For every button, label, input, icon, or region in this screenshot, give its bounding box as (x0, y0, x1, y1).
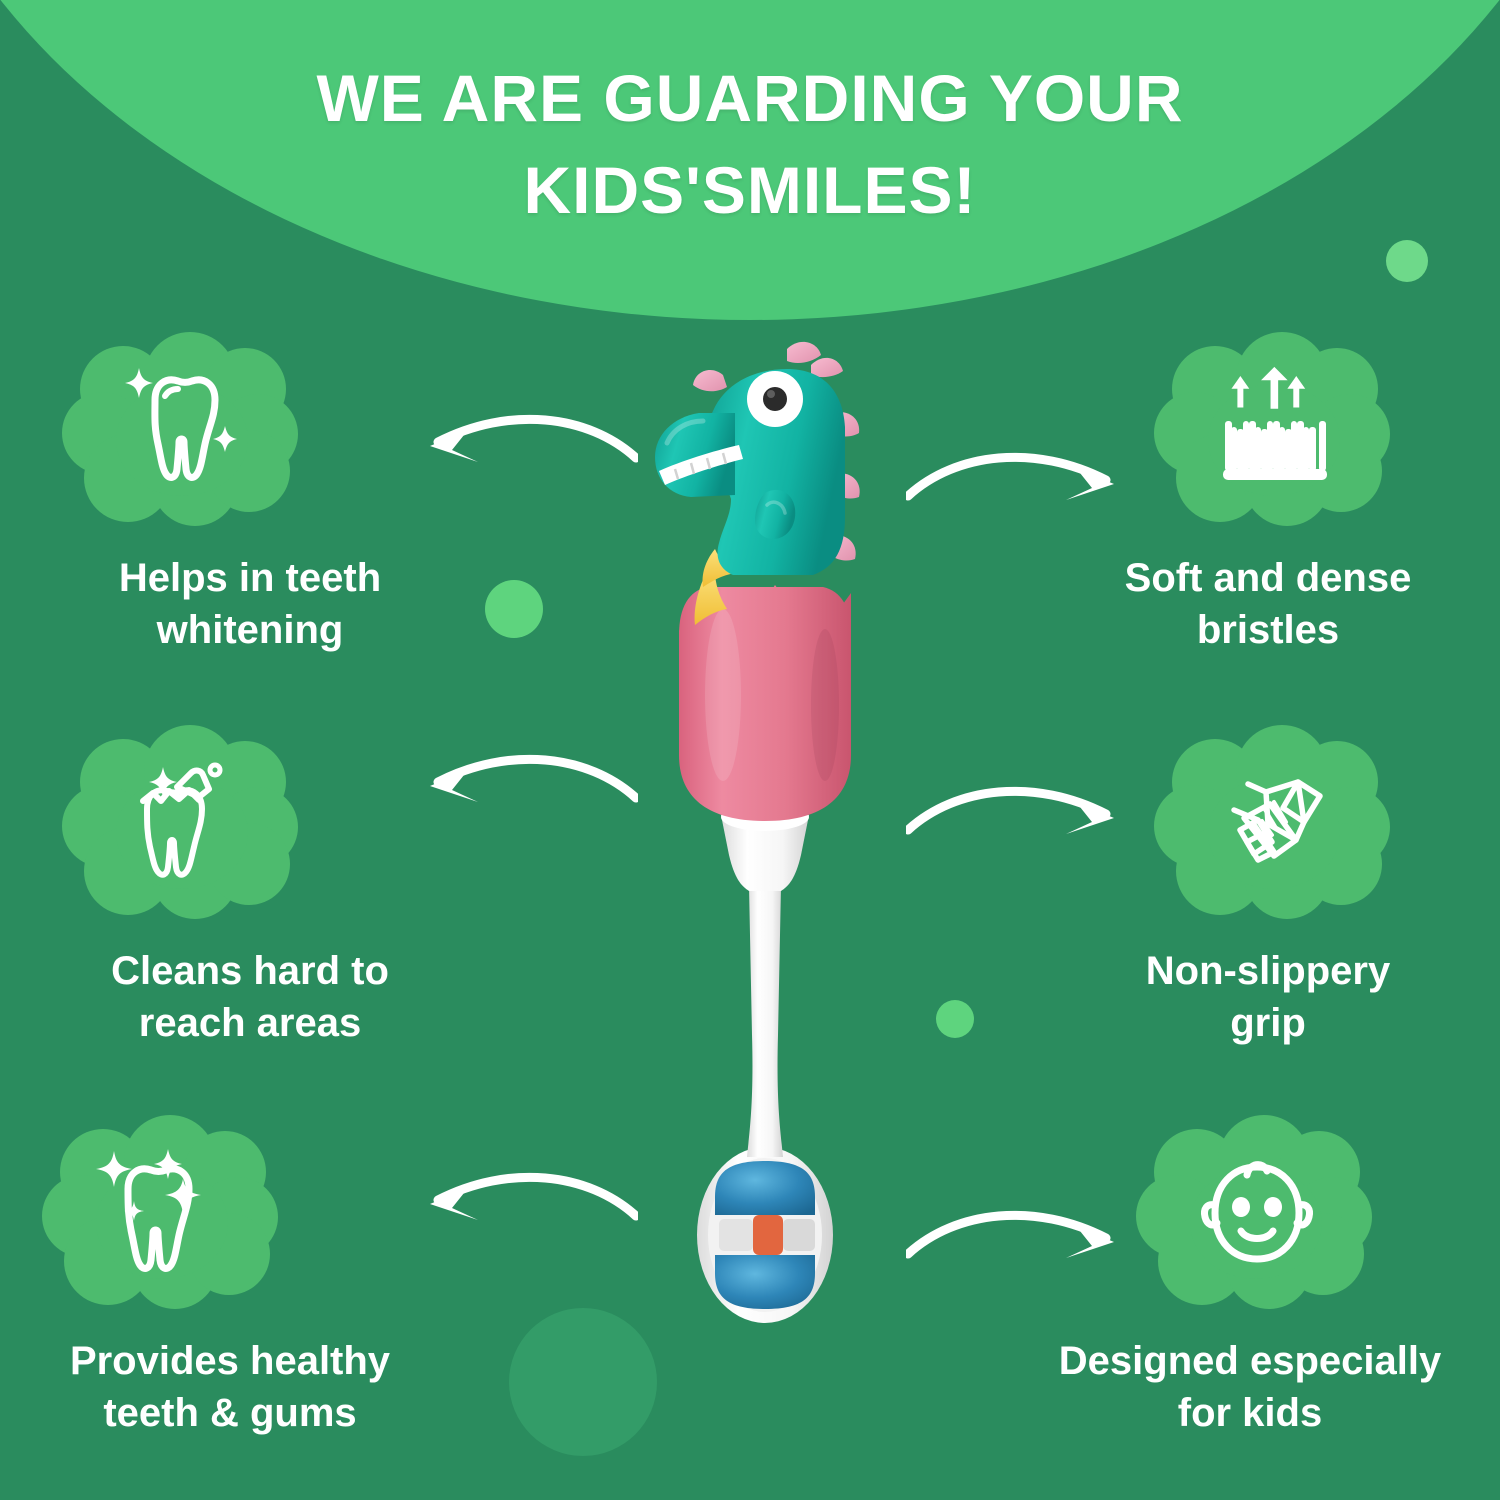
feature-label: Soft and dense bristles (1058, 552, 1478, 656)
egg-shell-body (679, 585, 851, 821)
arrow-right-grip (906, 772, 1136, 862)
baby-face-icon (1191, 1149, 1323, 1277)
feature-healthy-teeth-gums: Provides healthy teeth & gums (20, 1113, 440, 1439)
arrow-left-teeth-whitening (408, 400, 638, 490)
arrow-right-bristles (906, 438, 1136, 528)
brush-head (697, 1147, 833, 1323)
shiny-tooth-icon (88, 1145, 238, 1281)
feature-teeth-whitening: Helps in teeth whitening (40, 330, 460, 656)
dino-spike (787, 342, 821, 363)
feature-label: Non-slippery grip (1058, 945, 1478, 1049)
bristles-bottom (715, 1255, 815, 1309)
bristles-center-orange (753, 1215, 783, 1255)
decor-dot-top-right (1386, 240, 1428, 282)
arrow-left-healthy-teeth (408, 1158, 638, 1248)
dino-eye-pupil (763, 387, 787, 411)
arrow-left-hard-to-reach (408, 740, 638, 830)
decor-dot-mid-right (936, 1000, 974, 1038)
bristles-center-left (719, 1219, 753, 1251)
product-feature-infographic: WE ARE GUARDING YOUR KIDS'SMILES! (0, 0, 1500, 1500)
dinosaur-head (655, 342, 860, 575)
bristles-up-arrows-icon (1205, 365, 1345, 495)
decor-dot-mid-left (485, 580, 543, 638)
feature-label: Cleans hard to reach areas (40, 945, 460, 1049)
bristles-center-right (783, 1219, 815, 1251)
dinosaur-kids-toothbrush (615, 335, 915, 1365)
feature-label: Provides healthy teeth & gums (20, 1335, 440, 1439)
page-title-line1: WE ARE GUARDING YOUR (316, 61, 1183, 135)
dino-spike (811, 358, 843, 377)
tooth-brush-clean-icon (113, 757, 253, 889)
page-title-line2: KIDS'SMILES! (0, 144, 1500, 236)
dino-spike (693, 370, 727, 391)
page-title: WE ARE GUARDING YOUR KIDS'SMILES! (0, 52, 1500, 236)
feature-label: Helps in teeth whitening (40, 552, 460, 656)
handshake-icon (1200, 758, 1350, 888)
sparkling-tooth-icon (113, 364, 253, 496)
feature-label: Designed especially for kids (1040, 1335, 1460, 1439)
feature-hard-to-reach: Cleans hard to reach areas (40, 723, 460, 1049)
bristles-top (715, 1161, 815, 1215)
arrow-right-for-kids (906, 1196, 1136, 1286)
